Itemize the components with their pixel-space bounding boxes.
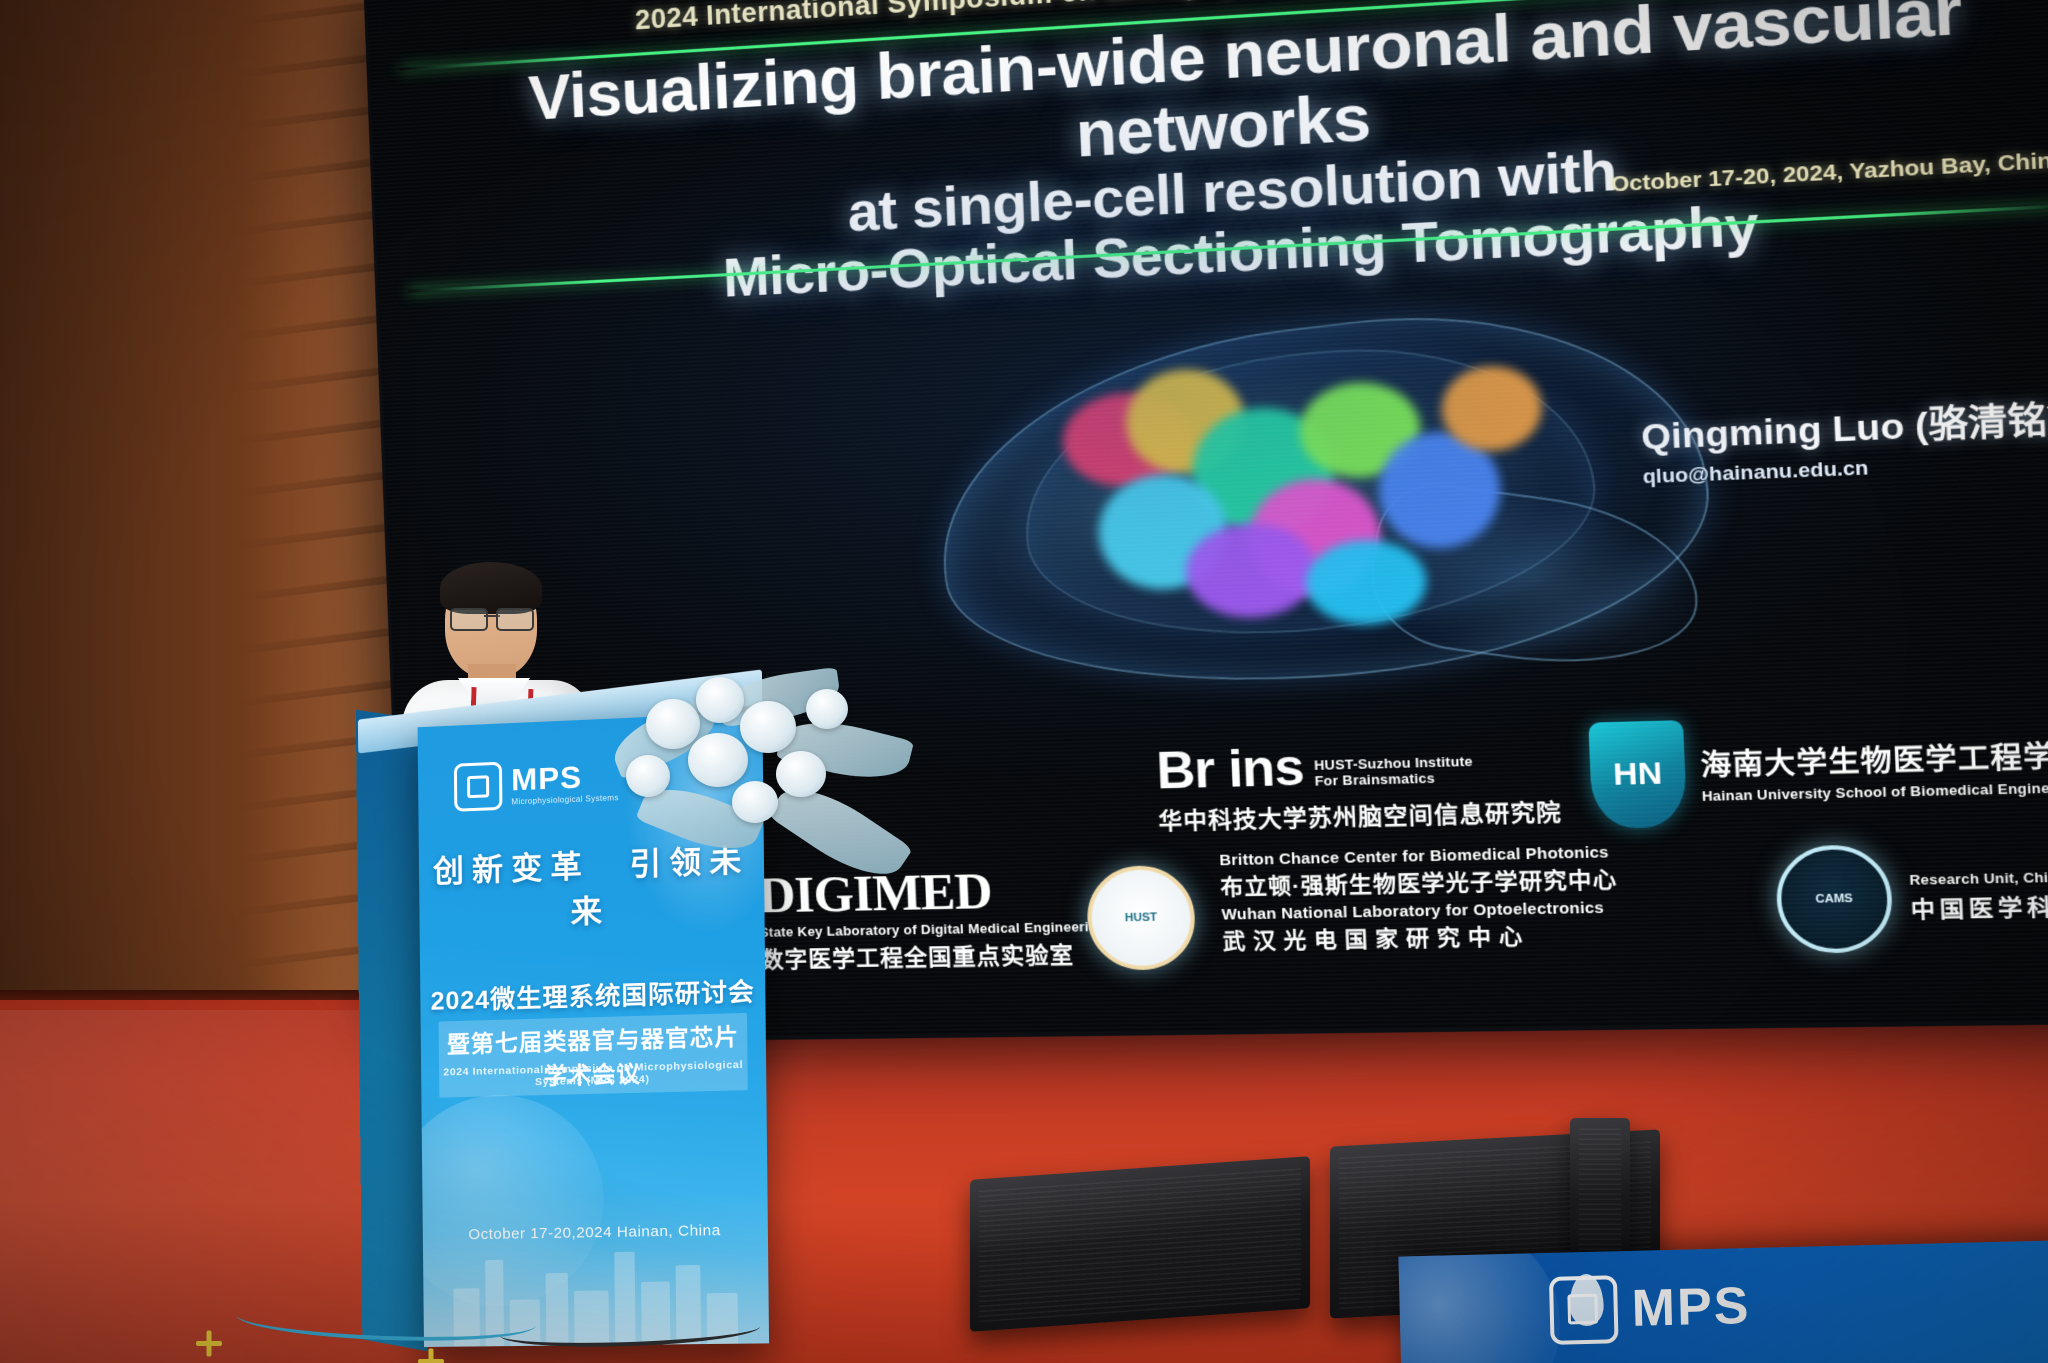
shield-icon: HN <box>1588 720 1687 829</box>
logo-digimed-cn: 数字医学工程全国重点实验室 <box>760 936 1108 974</box>
banner-mps-wordmark: MPS <box>1631 1280 1751 1335</box>
chip-icon <box>1549 1275 1619 1345</box>
conference-photo-scene: 2024 International Symposium on Microphy… <box>0 0 2048 1363</box>
podium-flower-arrangement <box>600 655 920 905</box>
logo-hainan-cn: 海南大学生物医学工程学院 <box>1700 732 2048 784</box>
logo-hainan-en: Hainan University School of Biomedical E… <box>1702 779 2048 804</box>
logo-hust: HUST <box>1085 865 1196 971</box>
glasses-icon <box>450 608 534 628</box>
stage-monitor-speaker-left <box>970 1156 1310 1332</box>
foreground-mps-banner: MPS <box>1398 1239 2048 1363</box>
banner-mps-logo: MPS <box>1549 1272 1751 1345</box>
logo-bc-cn-2: 武汉光电国家研究中心 <box>1222 918 1620 956</box>
hust-seal-icon: HUST <box>1085 865 1196 971</box>
logo-cams: CAMS Research Unit, Chinese Academy of M… <box>1775 835 2048 953</box>
podium-mps-logo: MPS Microphysiological Systems <box>454 757 619 812</box>
floor-tape-marker <box>196 1330 222 1356</box>
podium-side-panel <box>356 710 428 1352</box>
brain-network-graphic <box>858 285 1770 758</box>
logo-brains-cn: 华中科技大学苏州脑空间信息研究院 <box>1158 794 1563 837</box>
cams-seal-icon: CAMS <box>1775 844 1894 954</box>
logo-cams-en: Research Unit, Chinese Academy of Medica… <box>1909 863 2048 887</box>
logo-hainan-university: HN 海南大学生物医学工程学院 Hainan University School… <box>1588 709 2048 829</box>
logo-cams-cn: 中国医学科学院院外创新单元 <box>1910 884 2048 924</box>
presenter-hair <box>440 562 542 614</box>
logo-brains-en-2: For Brainsmatics <box>1314 769 1473 789</box>
logo-brains: Br ins HUST-Suzhou Institute For Brainsm… <box>1155 730 1562 836</box>
logo-britton-chance: Britton Chance Center for Biomedical Pho… <box>1219 843 1620 956</box>
chip-icon <box>454 762 503 812</box>
logo-brains-wordmark: Br ins <box>1155 737 1304 801</box>
neuron-tracts <box>1028 331 1585 646</box>
banner-decor-blob <box>1398 1239 1562 1363</box>
logo-bc-cn-1: 布立顿·强斯生物医学光子学研究中心 <box>1220 863 1618 902</box>
floor-tape-marker <box>418 1348 444 1363</box>
podium-title-cn: 2024微生理系统国际研讨会 <box>420 972 765 1018</box>
